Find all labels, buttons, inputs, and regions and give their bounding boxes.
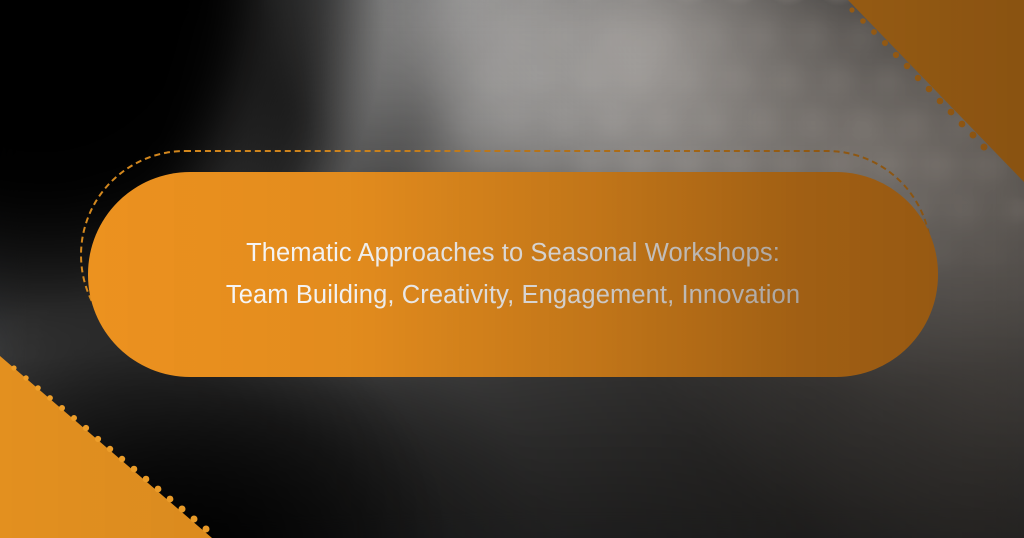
corner-decoration-top-right bbox=[840, 0, 1024, 182]
corner-decoration-bottom-left bbox=[0, 356, 212, 538]
slide-canvas: Thematic Approaches to Seasonal Workshop… bbox=[0, 0, 1024, 538]
bottom-left-triangle-icon bbox=[0, 356, 212, 538]
top-right-triangle-icon bbox=[840, 0, 1024, 182]
